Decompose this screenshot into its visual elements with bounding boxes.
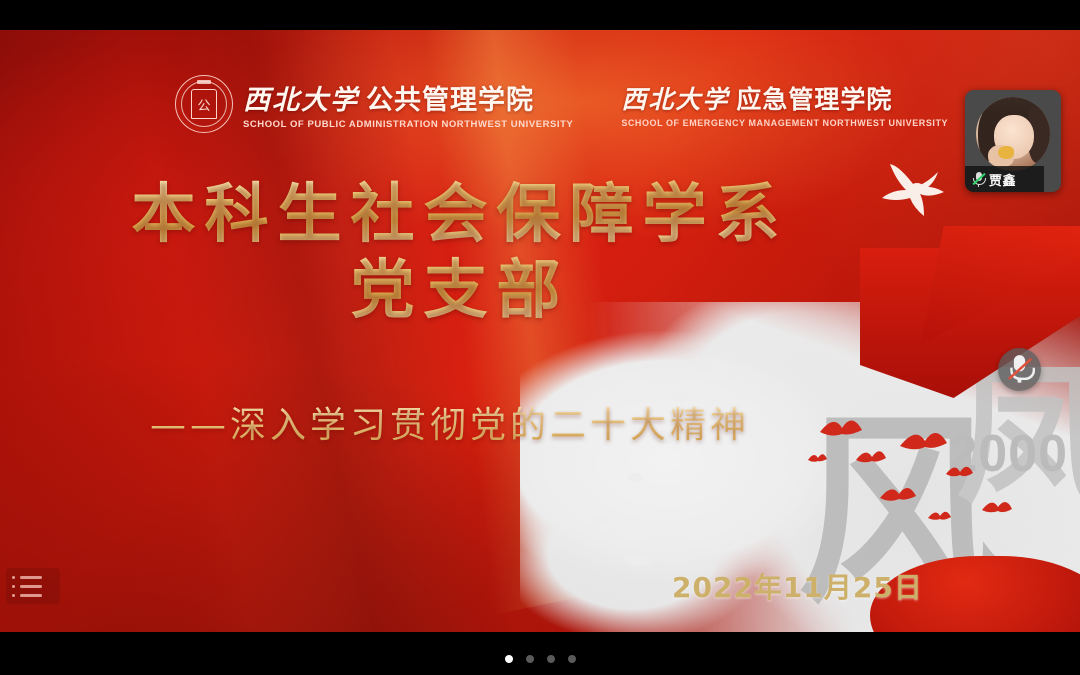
ink-speckle: [624, 554, 650, 566]
ink-speckle: [592, 514, 610, 524]
seal-char: 公: [191, 89, 217, 119]
logo-public-administration: 公 西北大学 公共管理学院 SCHOOL OF PUBLIC ADMINISTR…: [175, 75, 573, 133]
logo-unit-name: 公共管理学院: [366, 78, 534, 117]
top-letterbox-bar: [0, 0, 1080, 30]
bottom-letterbox-bar: [0, 632, 1080, 675]
pagination-dot[interactable]: [505, 655, 513, 663]
slide-subtitle: ——深入学习贯彻党的二十大精神: [0, 396, 900, 448]
logo-emergency-management: 西北大学 应急管理学院 SCHOOL OF EMERGENCY MANAGEME…: [621, 80, 948, 128]
slide-title-line-1: 本科生社会保障学系: [0, 178, 920, 254]
participant-list-icon[interactable]: [6, 568, 60, 604]
presentation-slide[interactable]: 风 凤 2000: [0, 30, 1080, 632]
participant-name-bar: 贾鑫: [965, 166, 1044, 192]
logo-university-name: 西北大学: [621, 80, 729, 116]
participant-video-tile[interactable]: 贾鑫: [965, 90, 1061, 192]
slide-logos: 公 西北大学 公共管理学院 SCHOOL OF PUBLIC ADMINISTR…: [175, 75, 948, 133]
ink-speckle: [716, 362, 728, 370]
pagination-dot[interactable]: [547, 655, 555, 663]
logo-english-name: SCHOOL OF EMERGENCY MANAGEMENT NORTHWEST…: [621, 118, 948, 128]
mic-muted-icon[interactable]: [972, 172, 985, 187]
pagination-dot[interactable]: [568, 655, 576, 663]
screen-share-window: 风 凤 2000: [0, 0, 1080, 675]
slide-date: 2022年11月25日: [672, 566, 923, 606]
participant-name: 贾鑫: [989, 170, 1016, 189]
mic-muted-icon: [1008, 355, 1032, 384]
slide-pagination-dots[interactable]: [0, 655, 1080, 663]
mute-toggle-button[interactable]: [998, 348, 1041, 391]
slide-title: 本科生社会保障学系 党支部: [0, 178, 920, 329]
logo-unit-name: 应急管理学院: [736, 80, 892, 116]
logo-university-name: 西北大学: [243, 78, 359, 117]
ink-speckle: [628, 473, 642, 482]
slide-title-line-2: 党支部: [0, 254, 920, 330]
pagination-dot[interactable]: [526, 655, 534, 663]
avatar: [976, 97, 1050, 171]
nwu-seal-emblem: 公: [175, 75, 233, 133]
logo-english-name: SCHOOL OF PUBLIC ADMINISTRATION NORTHWES…: [243, 119, 573, 130]
